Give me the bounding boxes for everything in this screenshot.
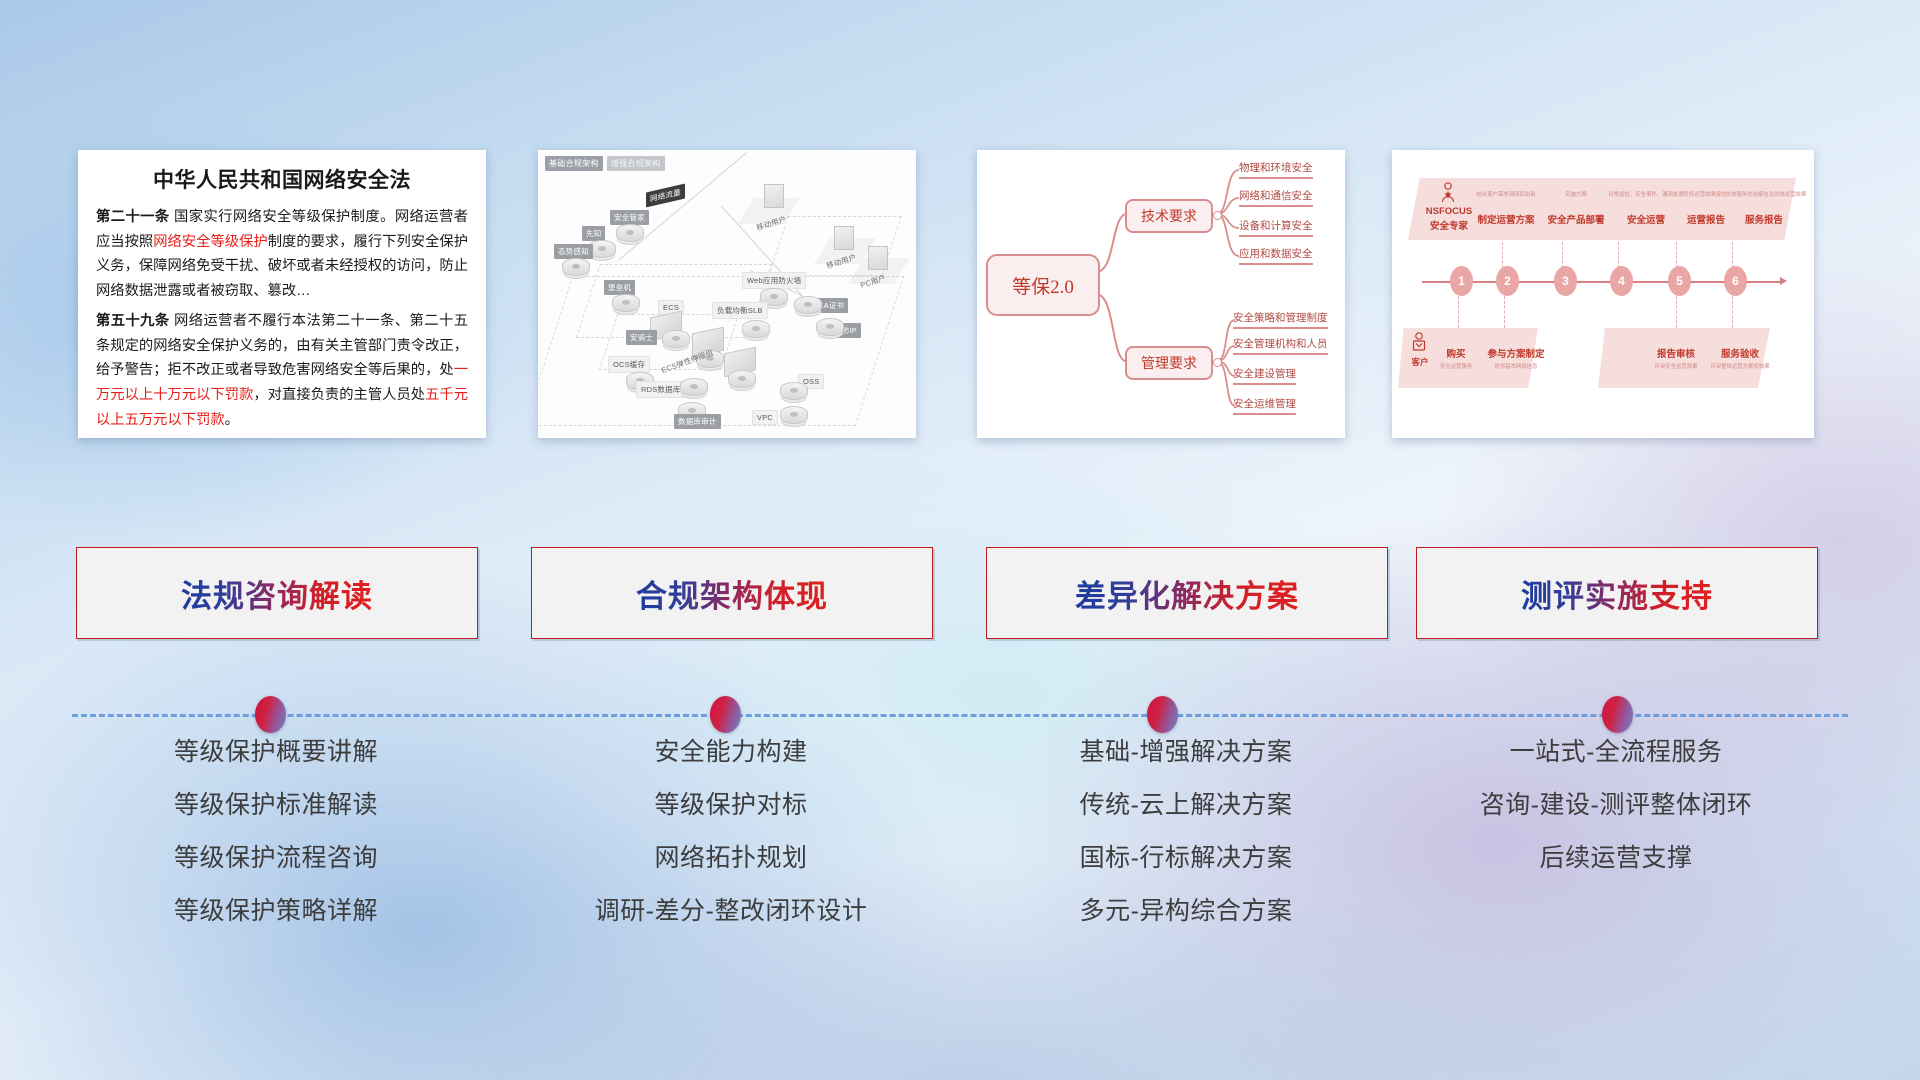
mindmap-diagram: 等保2.0 技术要求 物理和环境安全 网络和通信安全 设备和计算安全 应用和数据… xyxy=(977,150,1345,438)
section-header-1-label: 法规咨询解读 xyxy=(181,571,373,616)
timeline-node-6[interactable]: 6 xyxy=(1724,266,1747,296)
law-run: 。 xyxy=(225,412,239,428)
service-timeline-diagram: NSFOCUS 安全专家 结合客户需求调研后出具 制定运营方案 实施方案 安全产… xyxy=(1392,150,1814,438)
timeline-bottom-sub: 安全运营服务 xyxy=(1430,362,1482,370)
architecture-node-vpc: VPC xyxy=(752,410,778,425)
architecture-disk-icon xyxy=(742,320,770,338)
mindmap-root-node: 等保2.0 xyxy=(986,254,1100,316)
architecture-canvas: 网络流量 安全管家 先知 态势感知 堡垒机 移动用户 移动用户 PC用户 Web… xyxy=(546,168,908,430)
mindmap-leaf: 安全管理机构和人员 xyxy=(1233,336,1328,355)
section-list-4: 一站式-全流程服务 咨询-建设-测评整体闭环 后续运营支撑 xyxy=(1406,740,1826,899)
timeline-marker-2[interactable] xyxy=(710,696,741,733)
timeline-node-5[interactable]: 5 xyxy=(1668,266,1691,296)
mindmap-leaf: 物理和环境安全 xyxy=(1239,160,1313,179)
mindmap-leaf: 安全运维管理 xyxy=(1233,396,1296,415)
timeline-bottom-label: 报告审核 xyxy=(1640,346,1712,360)
card-row: 中华人民共和国网络安全法 第二十一条 国家实行网络安全等级保护制度。网络运营者应… xyxy=(0,150,1920,445)
architecture-disk-icon xyxy=(612,294,640,312)
section-header-1[interactable]: 法规咨询解读 xyxy=(76,547,478,639)
timeline-marker-3[interactable] xyxy=(1147,696,1178,733)
architecture-node-situational-awareness: 态势感知 xyxy=(554,244,593,259)
timeline-node-3[interactable]: 3 xyxy=(1554,266,1577,296)
architecture-diagram: 基础合规架构 增强合规架构 网络流量 安全管家 xyxy=(538,150,916,438)
mindmap-branch-management: 管理要求 xyxy=(1125,346,1213,380)
architecture-wire xyxy=(618,152,747,261)
architecture-node-security-butler: 安全管家 xyxy=(610,210,649,225)
law-article-number-59: 第五十九条 xyxy=(96,313,170,329)
timeline-connector xyxy=(1562,242,1564,268)
architecture-card[interactable]: 基础合规架构 增强合规架构 网络流量 安全管家 xyxy=(538,150,916,438)
section-header-row: 法规咨询解读 合规架构体现 差异化解决方案 测评实施支持 xyxy=(0,547,1920,643)
law-paragraph-59: 第五十九条 网络运营者不履行本法第二十一条、第二十五条规定的网络安全保护义务的，… xyxy=(96,309,468,432)
architecture-disk-icon xyxy=(616,224,644,242)
list-item: 一站式-全流程服务 xyxy=(1406,740,1826,765)
mindmap-collapse-dot-icon[interactable] xyxy=(1213,211,1222,220)
section-header-2[interactable]: 合规架构体现 xyxy=(531,547,933,639)
mindmap-leaf: 设备和计算安全 xyxy=(1239,218,1313,237)
section-header-4-label: 测评实施支持 xyxy=(1521,571,1713,616)
architecture-disk-icon xyxy=(780,406,808,424)
section-list-1: 等级保护概要讲解 等级保护标准解读 等级保护流程咨询 等级保护策略详解 xyxy=(66,740,486,952)
list-item: 传统-云上解决方案 xyxy=(976,793,1396,818)
service-timeline-card[interactable]: NSFOCUS 安全专家 结合客户需求调研后出具 制定运营方案 实施方案 安全产… xyxy=(1392,150,1814,438)
expert-person-icon xyxy=(1438,182,1458,204)
law-article-number-21: 第二十一条 xyxy=(96,209,170,225)
architecture-node-ocs: OCS缓存 xyxy=(608,356,650,373)
law-run: ，对直接负责的主管人员处 xyxy=(253,387,425,403)
timeline-node-2[interactable]: 2 xyxy=(1496,266,1519,296)
mindmap-collapse-dot-icon[interactable] xyxy=(1213,358,1222,367)
timeline-node-1[interactable]: 1 xyxy=(1450,266,1473,296)
timeline-bottom-sub: 评审整体运营方案和效果 xyxy=(1698,362,1782,370)
architecture-disk-icon xyxy=(794,296,822,314)
architecture-node-db-audit: 数据库审计 xyxy=(674,414,721,429)
architecture-disk-icon xyxy=(728,370,756,388)
law-card-body: 中华人民共和国网络安全法 第二十一条 国家实行网络安全等级保护制度。网络运营者应… xyxy=(78,150,486,438)
timeline-connector xyxy=(1502,242,1504,268)
architecture-node-waf: Web应用防火墙 xyxy=(742,272,806,289)
timeline-connector xyxy=(1676,296,1678,328)
timeline-dashed-line xyxy=(72,714,1848,717)
mindmap-branch-technical: 技术要求 xyxy=(1125,199,1213,233)
customer-person-icon xyxy=(1410,332,1428,354)
timeline-marker-1[interactable] xyxy=(255,696,286,733)
timeline-connector xyxy=(1732,242,1734,268)
architecture-node-bastion: 堡垒机 xyxy=(604,280,635,295)
timeline-connector xyxy=(1676,242,1678,268)
list-item: 基础-增强解决方案 xyxy=(976,740,1396,765)
architecture-disk-icon xyxy=(816,318,844,336)
timeline-connector xyxy=(1458,296,1460,328)
timeline-top-label: 服务报告 xyxy=(1722,212,1806,226)
list-item: 国标-行标解决方案 xyxy=(976,846,1396,871)
law-card[interactable]: 中华人民共和国网络安全法 第二十一条 国家实行网络安全等级保护制度。网络运营者应… xyxy=(78,150,486,438)
section-header-3-label: 差异化解决方案 xyxy=(1075,571,1299,616)
section-list-row: 等级保护概要讲解 等级保护标准解读 等级保护流程咨询 等级保护策略详解 安全能力… xyxy=(0,740,1920,960)
list-item: 等级保护策略详解 xyxy=(66,899,486,924)
mindmap-leaf: 安全策略和管理制度 xyxy=(1233,310,1328,329)
architecture-disk-icon xyxy=(680,378,708,396)
list-item: 等级保护对标 xyxy=(521,793,941,818)
list-item: 后续运营支撑 xyxy=(1406,846,1826,871)
timeline-bottom-sub: 提供基本网络信息 xyxy=(1478,362,1554,370)
timeline-connector xyxy=(1504,296,1506,328)
mindmap-card[interactable]: 等保2.0 技术要求 物理和环境安全 网络和通信安全 设备和计算安全 应用和数据… xyxy=(977,150,1345,438)
timeline-top-sub: 总体服务总结报告及总体运营效果 xyxy=(1714,190,1814,198)
timeline-axis-arrow-icon xyxy=(1780,277,1787,285)
mindmap-leaf: 网络和通信安全 xyxy=(1239,188,1313,207)
architecture-node-rds: RDS数据库 xyxy=(636,381,686,398)
architecture-node-anqishi: 安骑士 xyxy=(626,330,657,345)
architecture-user-screen-icon xyxy=(764,184,784,208)
list-item: 多元-异构综合方案 xyxy=(976,899,1396,924)
architecture-node-xianzhi: 先知 xyxy=(582,226,605,241)
mindmap-leaf: 应用和数据安全 xyxy=(1239,246,1313,265)
architecture-user-screen-icon xyxy=(834,226,854,250)
timeline-bottom-label: 购买 xyxy=(1434,346,1478,360)
architecture-disk-icon xyxy=(662,330,690,348)
law-card-title: 中华人民共和国网络安全法 xyxy=(96,164,468,194)
list-item: 等级保护标准解读 xyxy=(66,793,486,818)
timeline-marker-4[interactable] xyxy=(1602,696,1633,733)
section-header-3[interactable]: 差异化解决方案 xyxy=(986,547,1388,639)
section-list-2: 安全能力构建 等级保护对标 网络拓扑规划 调研-差分-整改闭环设计 xyxy=(521,740,941,952)
timeline-connector xyxy=(1732,296,1734,328)
progress-timeline xyxy=(0,690,1920,740)
list-item: 等级保护概要讲解 xyxy=(66,740,486,765)
timeline-bottom-label: 参与方案制定 xyxy=(1480,346,1552,360)
mindmap-leaf: 安全建设管理 xyxy=(1233,366,1296,385)
list-item: 调研-差分-整改闭环设计 xyxy=(521,899,941,924)
list-item: 网络拓扑规划 xyxy=(521,846,941,871)
architecture-disk-icon xyxy=(562,258,590,276)
architecture-node-network-traffic: 网络流量 xyxy=(646,184,685,208)
architecture-node-slb: 负载均衡SLB xyxy=(712,302,768,319)
section-header-2-label: 合规架构体现 xyxy=(636,571,828,616)
timeline-node-4[interactable]: 4 xyxy=(1610,266,1633,296)
timeline-bottom-label: 服务验收 xyxy=(1704,346,1776,360)
timeline-connector xyxy=(1618,242,1620,268)
architecture-disk-icon xyxy=(780,382,808,400)
section-list-3: 基础-增强解决方案 传统-云上解决方案 国标-行标解决方案 多元-异构综合方案 xyxy=(976,740,1396,952)
section-header-4[interactable]: 测评实施支持 xyxy=(1416,547,1818,639)
list-item: 安全能力构建 xyxy=(521,740,941,765)
law-paragraph-21: 第二十一条 国家实行网络安全等级保护制度。网络运营者应当按照网络安全等级保护制度… xyxy=(96,205,468,303)
list-item: 咨询-建设-测评整体闭环 xyxy=(1406,793,1826,818)
list-item: 等级保护流程咨询 xyxy=(66,846,486,871)
law-run-highlight: 网络安全等级保护 xyxy=(153,234,267,250)
architecture-user-screen-icon xyxy=(868,246,888,270)
